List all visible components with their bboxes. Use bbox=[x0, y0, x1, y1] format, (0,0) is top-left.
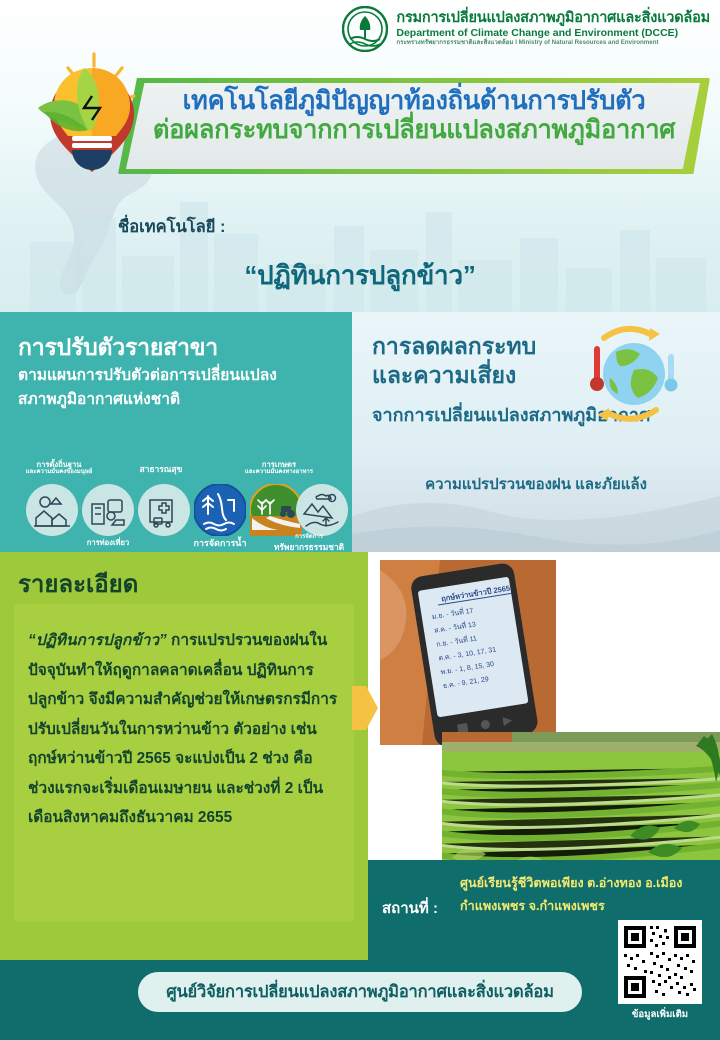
lightbulb-leaf-map-pin-icon bbox=[22, 52, 162, 227]
sector-label-tourism: การท่องเที่ยว bbox=[60, 538, 156, 547]
sector-item-natural-resources[interactable] bbox=[296, 484, 348, 536]
banner-text-block: เทคโนโลยีภูมิปัญญาท้องถิ่นด้านการปรับตัว… bbox=[118, 86, 710, 146]
location-line1: ศูนย์เรียนรู้ชีวิตพอเพียง ต.อ่างทอง อ.เม… bbox=[460, 872, 708, 895]
mitigation-panel: การลดผลกระทบ และความเสี่ยง จากการเปลี่ยน… bbox=[352, 312, 720, 552]
sector-label-settlement: การตั้งถิ่นฐาน และความมั่นคงของมนุษย์ bbox=[6, 460, 112, 477]
adaptation-subheading-line2: สภาพภูมิอากาศแห่งชาติ bbox=[18, 388, 338, 412]
location-label: สถานที่ : bbox=[382, 896, 438, 920]
poster-title-line2: ต่อผลกระทบจากการเปลี่ยนแปลงสภาพภูมิอากาศ bbox=[118, 115, 710, 146]
technology-name-label: ชื่อเทคโนโลยี : bbox=[118, 214, 226, 240]
smartphone-rice-calendar-photo: ฤกษ์หว่านข้าวปี 2565 ม.ย. - วันที่ 17 ส.… bbox=[378, 558, 558, 747]
qr-code-block[interactable]: ข้อมูลเพิ่มเติม bbox=[618, 920, 702, 1026]
sector-icon-row: การตั้งถิ่นฐาน และความมั่นคงของมนุษย์ bbox=[4, 462, 348, 546]
qr-caption: ข้อมูลเพิ่มเติม bbox=[618, 1007, 702, 1022]
adaptation-sectors-panel: การปรับตัวรายสาขา ตามแผนการปรับตัวต่อการ… bbox=[0, 312, 352, 552]
technology-name-value: “ปฏิทินการปลูกข้าว” bbox=[0, 255, 720, 296]
title-banner: เทคโนโลยีภูมิปัญญาท้องถิ่นด้านการปรับตัว… bbox=[118, 78, 710, 174]
detail-body-text: “ปฏิทินการปลูกข้าว” การแปรปรวนของฝนในปัจ… bbox=[28, 626, 342, 833]
arrow-right-icon bbox=[352, 686, 378, 730]
detail-section: รายละเอียด “ปฏิทินการปลูกข้าว” การแปรปรว… bbox=[0, 552, 368, 960]
location-line2: กำแพงเพชร จ.กำแพงเพชร bbox=[460, 895, 708, 918]
sector-item-water-management[interactable] bbox=[194, 484, 246, 536]
rice-paddy-field-photo bbox=[442, 732, 720, 866]
city-bus-car-icon bbox=[82, 484, 134, 536]
sector-label-water-management: การจัดการน้ำ bbox=[170, 538, 270, 549]
org-name-english: Department of Climate Change and Environ… bbox=[396, 28, 710, 39]
sector-label-agriculture: การเกษตร และความมั่นคงทางอาหาร bbox=[226, 460, 332, 477]
footer-title: ศูนย์วิจัยการเปลี่ยนแปลงสภาพภูมิอากาศและ… bbox=[166, 979, 554, 1005]
mitigation-panel-note: ความแปรปรวนของฝน และภัยแล้ง bbox=[352, 472, 720, 496]
organization-logo: กรมการเปลี่ยนแปลงสภาพภูมิอากาศและสิ่งแวด… bbox=[342, 6, 710, 52]
adaptation-panel-heading: การปรับตัวรายสาขา bbox=[18, 330, 218, 366]
sector-label-public-health: สาธารณสุข bbox=[116, 464, 206, 475]
sector-item-public-health[interactable] bbox=[138, 484, 190, 536]
globe-thermometer-icon bbox=[576, 322, 684, 426]
hospital-ambulance-icon bbox=[138, 484, 190, 536]
adaptation-panel-subheading: ตามแผนการปรับตัวต่อการเปลี่ยนแปลง สภาพภู… bbox=[18, 364, 338, 412]
sector-item-tourism[interactable] bbox=[82, 484, 134, 536]
sector-label-natural-resources: การจัดการ ทรัพยากรธรรมชาติ bbox=[266, 534, 352, 552]
footer-bar: ศูนย์วิจัยการเปลี่ยนแปลงสภาพภูมิอากาศและ… bbox=[0, 960, 720, 1040]
poster-title-line1: เทคโนโลยีภูมิปัญญาท้องถิ่นด้านการปรับตัว bbox=[118, 86, 710, 117]
mountain-forest-river-icon bbox=[296, 484, 348, 536]
detail-body-paragraph: การแปรปรวนของฝนในปัจจุบันทำให้ฤดูกาลคลาด… bbox=[28, 632, 337, 826]
river-faucet-icon bbox=[194, 484, 246, 536]
mitigation-heading-line2: และความเสี่ยง bbox=[372, 361, 536, 390]
wheat-tractor-farm-icon bbox=[250, 484, 302, 536]
sector-item-agriculture[interactable] bbox=[250, 484, 302, 536]
hero-section: กรมการเปลี่ยนแปลงสภาพภูมิอากาศและสิ่งแวด… bbox=[0, 0, 720, 312]
location-text: ศูนย์เรียนรู้ชีวิตพอเพียง ต.อ่างทอง อ.เม… bbox=[460, 872, 708, 919]
village-houses-icon bbox=[26, 484, 78, 536]
adaptation-subheading-line1: ตามแผนการปรับตัวต่อการเปลี่ยนแปลง bbox=[18, 364, 338, 388]
detail-heading: รายละเอียด bbox=[18, 564, 138, 603]
detail-quoted-term: “ปฏิทินการปลูกข้าว” bbox=[28, 632, 167, 649]
sector-item-settlement[interactable] bbox=[26, 484, 78, 536]
org-ministry-line: กระทรวงทรัพยากรธรรมชาติและสิ่งแวดล้อม I … bbox=[396, 40, 710, 47]
poster-root: กรมการเปลี่ยนแปลงสภาพภูมิอากาศและสิ่งแวด… bbox=[0, 0, 720, 1040]
mitigation-panel-heading: การลดผลกระทบ และความเสี่ยง bbox=[372, 332, 536, 391]
dcce-seal-icon bbox=[342, 6, 388, 52]
footer-title-pill: ศูนย์วิจัยการเปลี่ยนแปลงสภาพภูมิอากาศและ… bbox=[138, 972, 582, 1012]
org-name-thai: กรมการเปลี่ยนแปลงสภาพภูมิอากาศและสิ่งแวด… bbox=[396, 11, 710, 27]
qr-code-icon[interactable] bbox=[618, 920, 702, 1004]
mitigation-heading-line1: การลดผลกระทบ bbox=[372, 332, 536, 361]
